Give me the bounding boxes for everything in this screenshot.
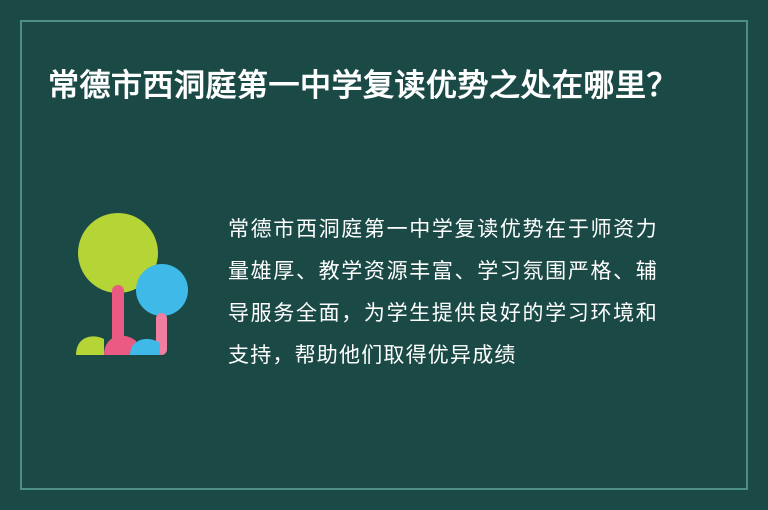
article-card: 常德市西洞庭第一中学复读优势之处在哪里？ 常德市西洞庭第一中学复读优势在于师资力… bbox=[0, 0, 768, 510]
article-body: 常德市西洞庭第一中学复读优势在于师资力量雄厚、教学资源丰富、学习氛围严格、辅导服… bbox=[228, 208, 658, 376]
ground-left-icon bbox=[76, 336, 104, 355]
page-title: 常德市西洞庭第一中学复读优势之处在哪里？ bbox=[48, 62, 688, 110]
small-tree-crown-icon bbox=[136, 264, 188, 316]
trees-illustration bbox=[70, 205, 200, 365]
big-tree-trunk-icon bbox=[112, 285, 124, 343]
